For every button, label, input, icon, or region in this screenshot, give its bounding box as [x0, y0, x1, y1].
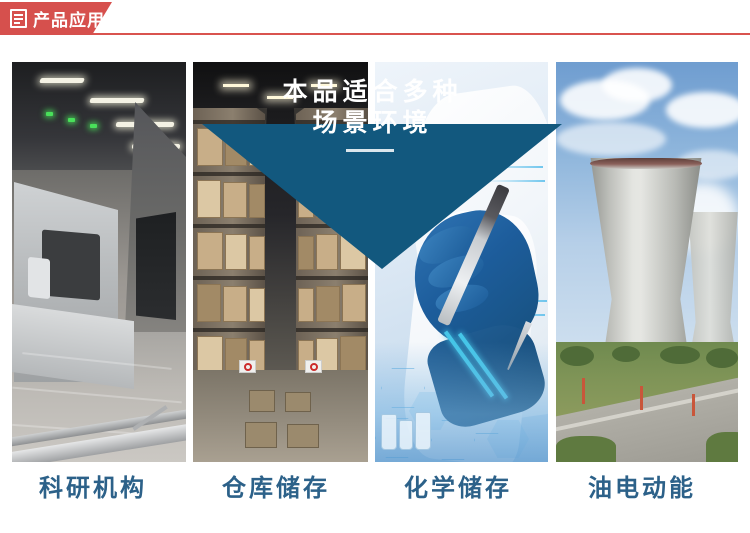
header-underline — [0, 33, 750, 35]
research-lab-photo — [12, 62, 186, 462]
document-list-icon — [10, 9, 27, 28]
chemical-lab-photo — [375, 62, 548, 462]
caption-power: 油电动能 — [547, 468, 737, 503]
page-title: 产品应用 — [33, 6, 105, 31]
gallery-panel-research[interactable] — [12, 62, 186, 462]
caption-row: 科研机构 仓库储存 化学储存 油电动能 — [0, 468, 750, 508]
warning-sign-icon — [239, 360, 256, 373]
warehouse-photo — [193, 62, 368, 462]
gallery-panel-power[interactable] — [556, 62, 738, 462]
caption-chemical: 化学储存 — [363, 468, 553, 503]
power-plant-photo — [556, 62, 738, 462]
gallery-panel-warehouse[interactable] — [193, 62, 368, 462]
page-header: 产品应用 — [0, 0, 750, 40]
header-content: 产品应用 — [0, 2, 105, 35]
warning-sign-icon — [305, 360, 322, 373]
caption-warehouse: 仓库储存 — [181, 468, 371, 503]
caption-research: 科研机构 — [0, 468, 188, 503]
application-gallery — [12, 62, 738, 462]
gallery-panel-chemical[interactable] — [375, 62, 548, 462]
